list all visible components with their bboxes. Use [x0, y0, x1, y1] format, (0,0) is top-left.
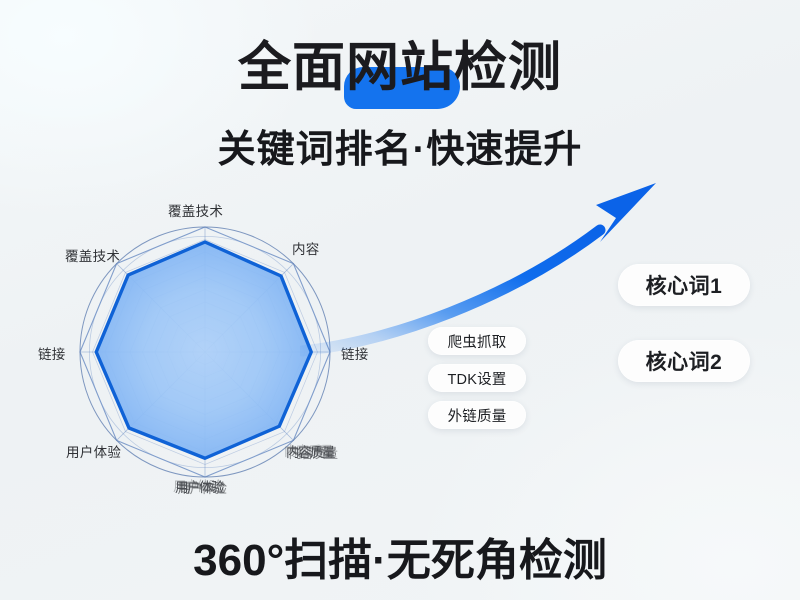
detail-pill-crawl[interactable]: 爬虫抓取	[428, 327, 526, 355]
radar-axis-label-top: 覆盖技术	[168, 200, 223, 220]
footer-headline: 360°扫描·无死角检测	[0, 524, 800, 588]
radar-axis-label-bottom-left: 用户体验	[66, 441, 121, 461]
poster-canvas: 全面网站检测 关键词排名·快速提升 覆盖技术 内容 链接 内容质量 用户体验 用…	[0, 0, 800, 600]
radar-axis-label-bottom: 用户体验	[175, 476, 223, 496]
keyword-pill-2[interactable]: 核心词2	[618, 340, 750, 382]
arrow-head	[596, 183, 656, 242]
page-title: 全面网站检测	[238, 36, 562, 100]
radar-axis-label-left: 链接	[38, 343, 66, 363]
title-block: 全面网站检测	[0, 36, 800, 106]
detail-pill-crawl-label: 爬虫抓取	[448, 331, 507, 352]
radar-axis-label-bottom-right: 内容质量	[286, 441, 334, 461]
keyword-pill-1[interactable]: 核心词1	[618, 264, 750, 306]
page-subtitle: 关键词排名·快速提升	[0, 118, 800, 173]
detail-pill-tdk-label: TDK设置	[448, 368, 507, 389]
radar-axis-label-top-left: 覆盖技术	[65, 245, 120, 265]
detail-pill-backlink[interactable]: 外链质量	[428, 401, 526, 429]
detail-pill-tdk[interactable]: TDK设置	[428, 364, 526, 392]
keyword-pill-1-label: 核心词1	[646, 270, 723, 300]
detail-pill-backlink-label: 外链质量	[448, 405, 507, 426]
keyword-pill-2-label: 核心词2	[646, 346, 723, 376]
